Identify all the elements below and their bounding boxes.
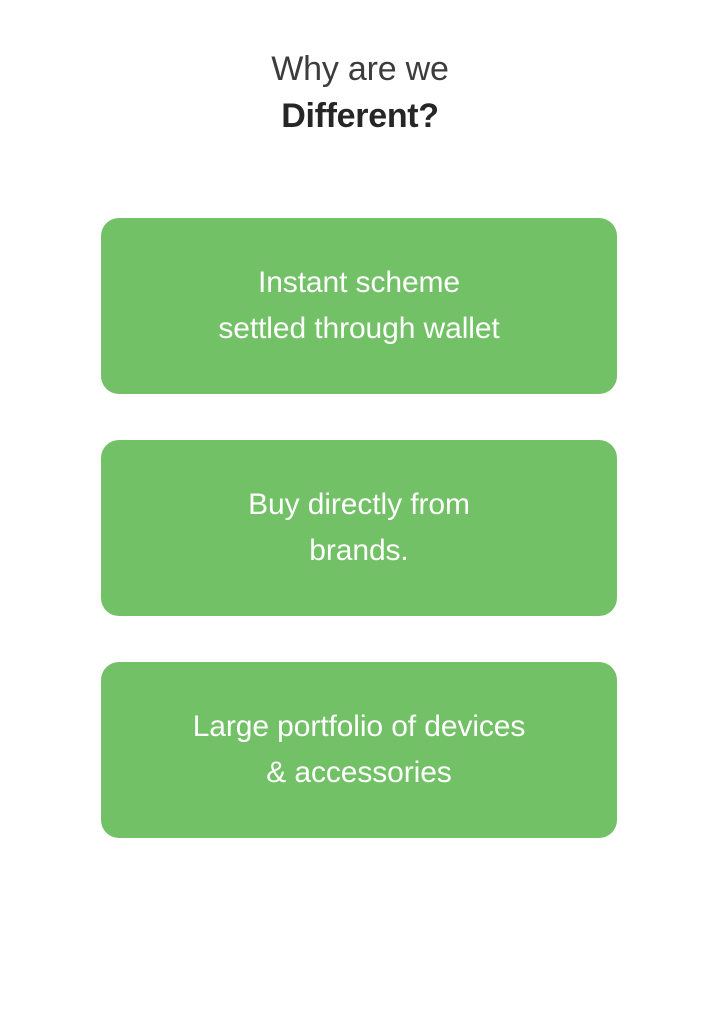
feature-card-buy-direct[interactable]: Buy directly from brands. (101, 440, 617, 616)
why-different-page: Why are we Different? Instant scheme set… (0, 0, 720, 1024)
feature-card-label: Instant scheme settled through wallet (200, 260, 517, 352)
feature-card-instant-scheme[interactable]: Instant scheme settled through wallet (101, 218, 617, 394)
page-title-line-2: Different? (0, 93, 720, 140)
feature-card-label: Large portfolio of devices & accessories (175, 704, 544, 796)
page-title: Why are we Different? (0, 46, 720, 140)
page-title-line-1: Why are we (0, 46, 720, 93)
feature-card-label: Buy directly from brands. (230, 482, 488, 574)
feature-card-large-portfolio[interactable]: Large portfolio of devices & accessories (101, 662, 617, 838)
feature-card-list: Instant scheme settled through wallet Bu… (101, 218, 617, 838)
